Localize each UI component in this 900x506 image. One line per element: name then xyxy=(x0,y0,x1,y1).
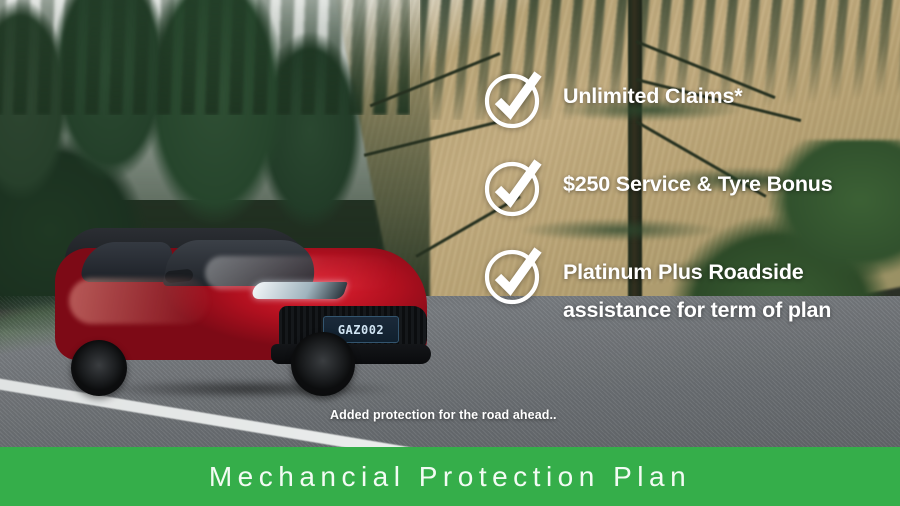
check-circle-icon xyxy=(483,156,545,218)
feature-item-roadside-assistance: Platinum Plus Roadside assistance for te… xyxy=(483,244,900,329)
feature-label-line1: Platinum Plus Roadside xyxy=(563,260,804,284)
tagline-caption: Added protection for the road ahead.. xyxy=(330,408,557,422)
car-photo-subject: GAZ002 xyxy=(55,222,435,382)
check-circle-icon xyxy=(483,244,545,306)
feature-label-multiline: Platinum Plus Roadside assistance for te… xyxy=(563,244,831,329)
feature-item-unlimited-claims: Unlimited Claims* xyxy=(483,68,900,130)
feature-label: $250 Service & Tyre Bonus xyxy=(563,156,832,203)
car-side-highlight xyxy=(69,278,209,324)
car-rear-wheel xyxy=(71,340,127,396)
car-front-wheel xyxy=(291,332,355,396)
pine-forest-canopy xyxy=(0,0,410,115)
promotional-banner: GAZ002 Unlimited Claims* $2 xyxy=(0,0,900,506)
feature-label: Unlimited Claims* xyxy=(563,68,742,115)
feature-label-line2: assistance for term of plan xyxy=(563,291,831,329)
footer-banner: Mechancial Protection Plan xyxy=(0,447,900,506)
car-headlight xyxy=(250,282,348,299)
plan-title: Mechancial Protection Plan xyxy=(209,461,691,493)
check-circle-icon xyxy=(483,68,545,130)
feature-item-service-bonus: $250 Service & Tyre Bonus xyxy=(483,156,900,218)
license-plate-text: GAZ002 xyxy=(338,323,384,337)
feature-list: Unlimited Claims* $250 Service & Tyre Bo… xyxy=(483,68,900,329)
